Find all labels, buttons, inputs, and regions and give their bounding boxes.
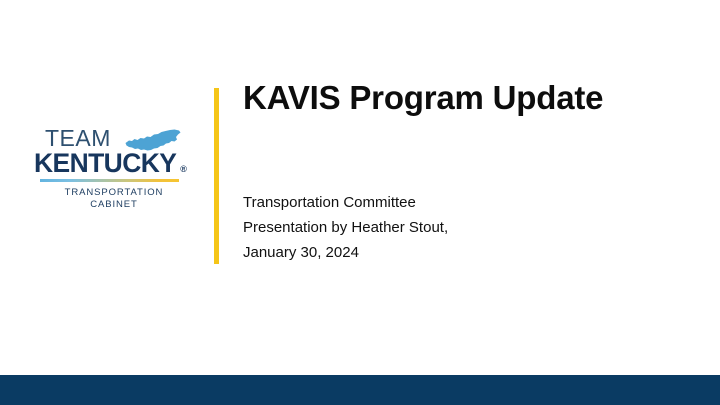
registered-trademark-icon: ® [180,164,187,174]
subtitle-line-1: Transportation Committee [243,190,448,215]
title-slide: TEAM KENTUCKY® TRANSPORTATION CABINET KA… [0,0,720,405]
subtitle-line-2: Presentation by Heather Stout, [243,215,448,240]
vertical-accent-bar [214,88,219,264]
logo-kentucky-row: KENTUCKY® [34,150,194,176]
team-kentucky-logo: TEAM KENTUCKY® TRANSPORTATION CABINET [34,126,194,211]
logo-cabinet-label: TRANSPORTATION CABINET [34,187,194,211]
logo-gradient-rule [40,179,179,182]
page-title: KAVIS Program Update [243,78,603,118]
footer-bar [0,375,720,405]
subtitle-line-3: January 30, 2024 [243,240,448,265]
logo-kentucky-text: KENTUCKY [34,150,176,177]
logo-cabinet-line-2: CABINET [34,199,194,211]
subtitle-block: Transportation Committee Presentation by… [243,190,448,265]
logo-cabinet-line-1: TRANSPORTATION [34,187,194,199]
